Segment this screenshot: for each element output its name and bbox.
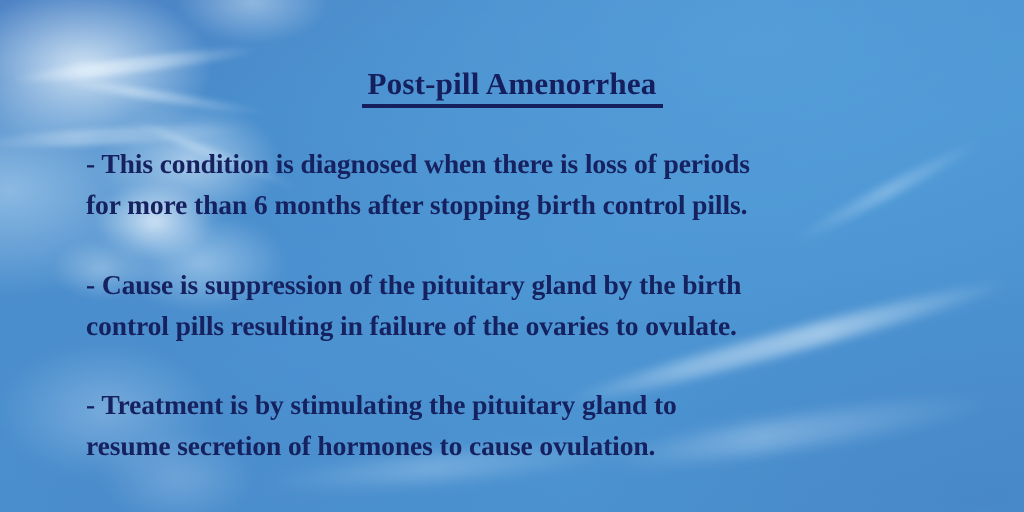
slide-content: Post-pill Amenorrhea - This condition is… [0, 0, 1024, 512]
slide-title-text: Post-pill Amenorrhea [362, 68, 663, 108]
slide-canvas: Post-pill Amenorrhea - This condition is… [0, 0, 1024, 512]
paragraph-treatment: - Treatment is by stimulating the pituit… [86, 384, 976, 466]
paragraph-cause: - Cause is suppression of the pituitary … [86, 264, 976, 346]
slide-title: Post-pill Amenorrhea [0, 68, 1024, 108]
paragraph-diagnosis: - This condition is diagnosed when there… [86, 143, 976, 225]
